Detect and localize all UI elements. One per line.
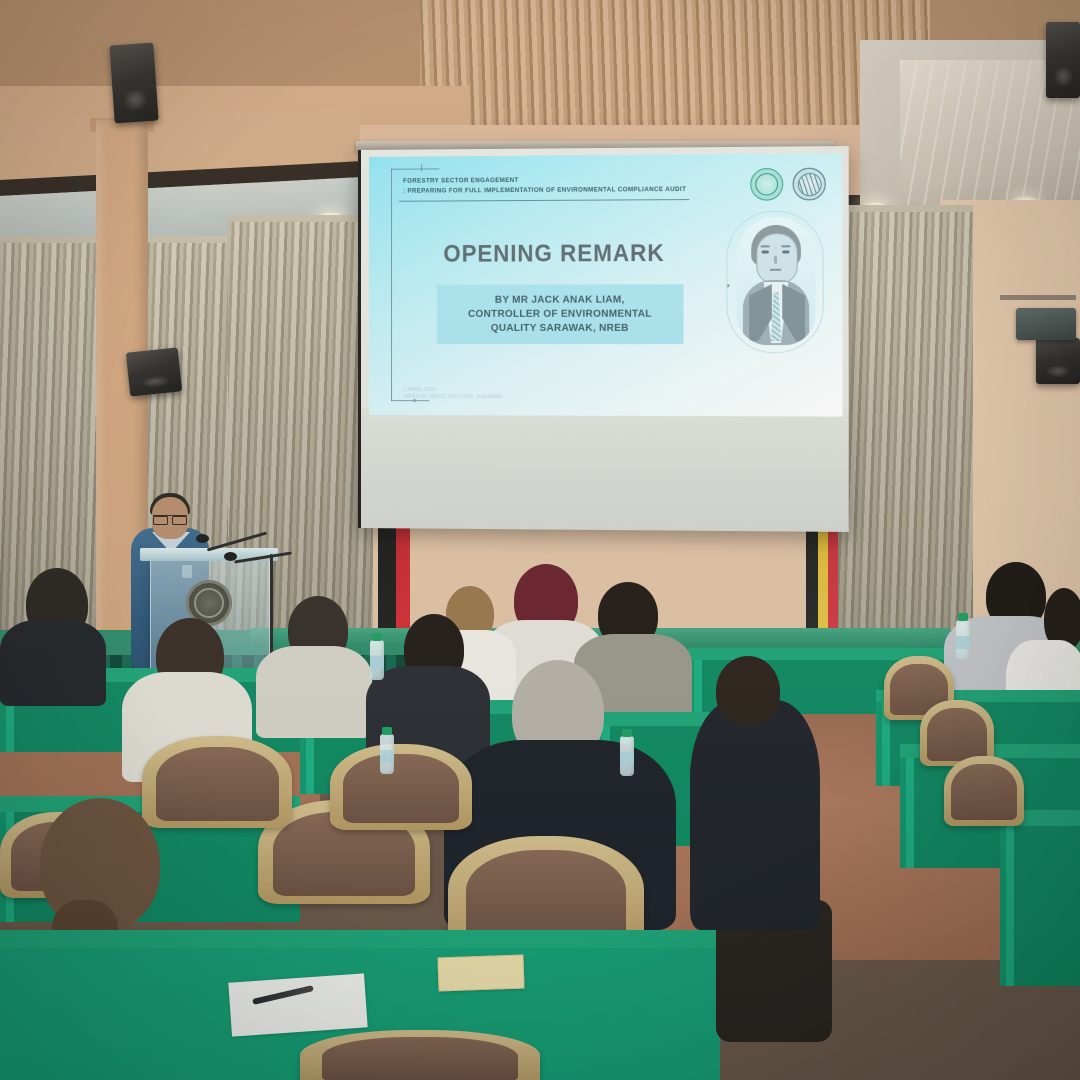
slide-header-line2: : PREPARING FOR FULL IMPLEMENTATION OF E…: [403, 184, 695, 195]
nreb-logo-icon: [750, 168, 783, 201]
slide-subtitle: BY MR JACK ANAK LIAM, CONTROLLER OF ENVI…: [437, 284, 684, 344]
curtain-shading-right: [838, 205, 973, 665]
portrait-brow-left: [761, 245, 770, 247]
speaker-cone-icon: [1054, 66, 1072, 86]
chair-cushion: [343, 754, 459, 823]
note-paper[interactable]: [228, 973, 367, 1036]
presentation-slide: FORESTRY SECTOR ENGAGEMENT : PREPARING F…: [369, 153, 842, 416]
slide-footer-line2: IMPERIAL HOTEL KUCHING, SARAWAK: [403, 394, 503, 401]
chair-right-3[interactable]: [944, 756, 1024, 826]
microphone-head-1: [196, 534, 209, 543]
attendee-torso-12: [690, 700, 820, 930]
slide-footer: 2 APRIL 2024 IMPERIAL HOTEL KUCHING, SAR…: [403, 387, 503, 401]
podium-crest-inner-ring: [194, 588, 224, 618]
speaker-cone-icon: [123, 88, 147, 110]
bottle-label: [956, 636, 970, 649]
bottle-cap: [958, 613, 968, 621]
wall-speaker-top-right: [1046, 22, 1080, 98]
attendee-torso-6: [0, 620, 106, 706]
water-bottle-3: [380, 734, 394, 774]
portrait-brow-right: [781, 245, 790, 247]
slide-bracket-top: [391, 168, 439, 169]
bottle-cap: [372, 633, 382, 641]
chair-cushion: [466, 850, 627, 943]
slide-header-rule: [399, 199, 689, 202]
bottle-label: [370, 656, 384, 669]
glasses-lens-right: [172, 516, 187, 525]
water-bottle-2: [370, 640, 384, 680]
slide-header: FORESTRY SECTOR ENGAGEMENT : PREPARING F…: [403, 175, 695, 196]
ceiling-soffit-left: [0, 0, 420, 96]
glasses-lens-left: [153, 516, 168, 525]
bottle-label: [380, 750, 394, 763]
portrait-mouth: [770, 269, 781, 271]
portrait-eye-right: [782, 250, 789, 253]
presenter-glasses: [153, 515, 187, 523]
slide-bracket-line: [391, 169, 392, 401]
slide-subtitle-line2: CONTROLLER OF ENVIRONMENTAL: [443, 307, 678, 321]
water-bottle-4: [620, 736, 634, 776]
forestry-dept-logo-icon: [793, 168, 826, 201]
portrait-eye-left: [762, 250, 769, 253]
projection-screen: FORESTRY SECTOR ENGAGEMENT : PREPARING F…: [358, 146, 849, 532]
chair-center-mid[interactable]: [330, 744, 472, 830]
bottle-label: [620, 752, 634, 765]
wall-speaker-right: [1036, 338, 1080, 384]
wall-speaker-top-left: [109, 43, 158, 124]
slide-logo-group: [750, 168, 826, 201]
slide-tick-top: [421, 165, 422, 172]
chair-left-mid[interactable]: [142, 736, 292, 828]
table-drape-right-4: [1000, 826, 1080, 986]
chair-cushion: [156, 747, 279, 821]
slide-title: OPENING REMARK: [428, 240, 680, 269]
portrait-nose: [774, 256, 777, 264]
bottle-cap: [382, 727, 392, 735]
chair-cushion: [951, 764, 1017, 820]
screen-blank-area: [361, 408, 849, 532]
notepad[interactable]: [437, 955, 524, 992]
attendee-torso-8: [256, 646, 372, 738]
conference-hall-photo: FORESTRY SECTOR ENGAGEMENT : PREPARING F…: [0, 0, 1080, 1080]
slide-subtitle-line3: QUALITY SARAWAK, NREB: [443, 321, 678, 335]
portrait-face: [756, 233, 797, 284]
bottle-cap: [622, 729, 632, 737]
water-bottle-1: [956, 620, 970, 660]
chair-front-foreground[interactable]: [300, 1030, 540, 1080]
chair-cushion: [322, 1037, 519, 1080]
projector-mount-arm: [1000, 295, 1076, 300]
ceiling-projector: [1016, 308, 1076, 340]
speaker-portrait-illustration: [737, 217, 816, 345]
attendee-head-12: [716, 656, 780, 726]
chair-cushion: [927, 708, 988, 761]
slide-subtitle-line1: BY MR JACK ANAK LIAM,: [443, 292, 678, 307]
speaker-cone-icon: [1047, 365, 1070, 377]
curtain-right: [838, 205, 973, 665]
speaker-cone-icon: [141, 374, 169, 388]
microphone-head-2: [224, 552, 237, 561]
wall-speaker-left: [126, 347, 182, 396]
